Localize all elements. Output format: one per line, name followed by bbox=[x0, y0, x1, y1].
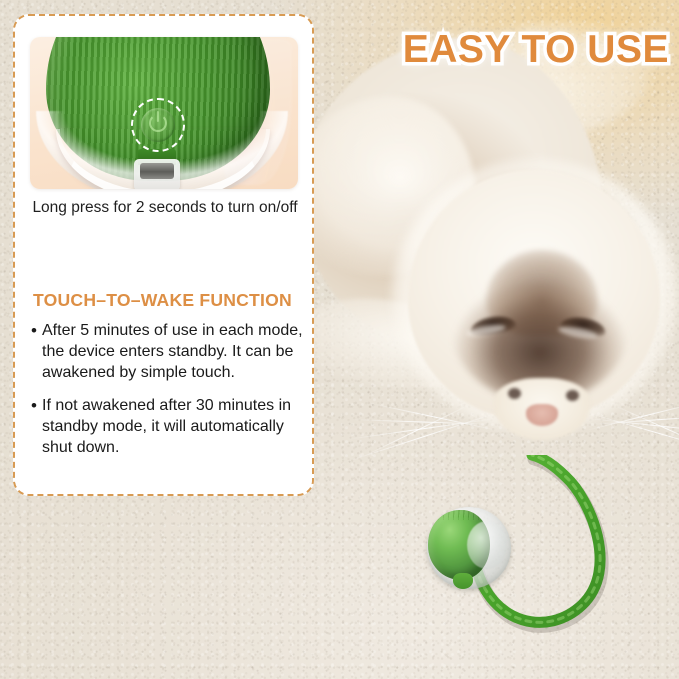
product-marketing-image: EASY TO USE Long press for 2 seconds to … bbox=[0, 0, 679, 679]
list-item: • If not awakened after 30 minutes in st… bbox=[31, 396, 307, 458]
page-title: EASY TO USE bbox=[403, 28, 669, 72]
inset-button-contact bbox=[140, 163, 174, 179]
inset-product-photo bbox=[30, 37, 298, 189]
ball-toy bbox=[427, 507, 511, 589]
inset-caption: Long press for 2 seconds to turn on/off bbox=[27, 199, 303, 218]
info-panel: Long press for 2 seconds to turn on/off … bbox=[13, 14, 314, 496]
feature-bullet-list: • After 5 minutes of use in each mode, t… bbox=[31, 321, 307, 472]
ball-glass-window bbox=[467, 521, 507, 569]
info-panel-inner: Long press for 2 seconds to turn on/off … bbox=[15, 16, 312, 494]
list-item: • After 5 minutes of use in each mode, t… bbox=[31, 321, 307, 383]
list-item-text: If not awakened after 30 minutes in stan… bbox=[42, 396, 307, 458]
cat-nostril-right bbox=[566, 390, 579, 401]
list-item-text: After 5 minutes of use in each mode, the… bbox=[42, 321, 307, 383]
bullet-marker-icon: • bbox=[31, 321, 42, 342]
cat-nostril-left bbox=[508, 388, 521, 399]
power-highlight-circle-icon bbox=[131, 98, 185, 152]
ball-rope-anchor bbox=[453, 573, 473, 589]
section-heading: TOUCH–TO–WAKE FUNCTION bbox=[33, 290, 292, 311]
bullet-marker-icon: • bbox=[31, 396, 42, 417]
